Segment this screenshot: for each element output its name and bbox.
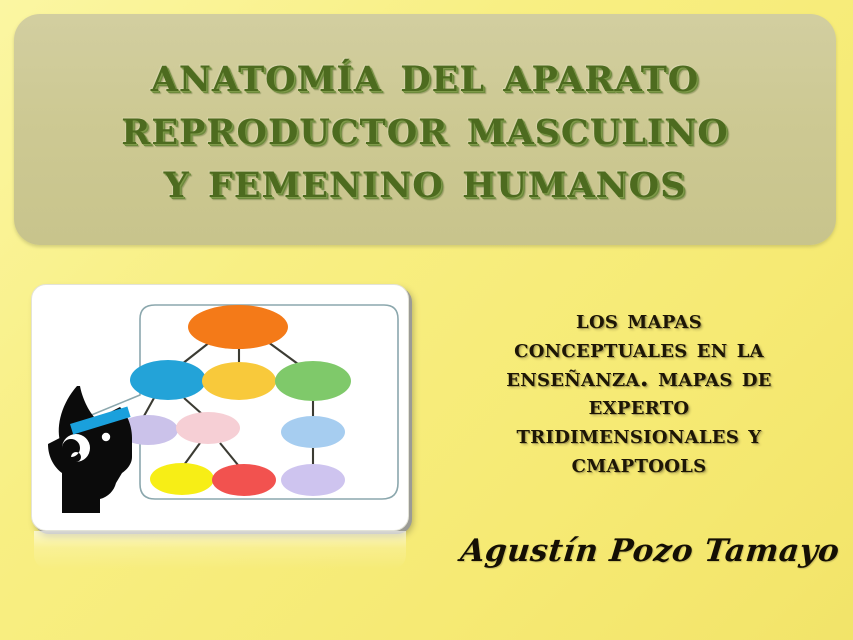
slide-canvas: Anatomía del Aparato Reproductor Masculi…	[0, 0, 853, 640]
title-line-2: Reproductor Masculino	[121, 100, 728, 153]
subtitle-line-1: Los mapas	[437, 306, 841, 335]
node-b2	[202, 362, 276, 400]
node-d1	[150, 463, 214, 495]
node-b1	[130, 360, 206, 400]
subtitle-text: Los mapas conceptuales en la enseñanza. …	[437, 306, 841, 479]
subtitle-line-3: enseñanza. Mapas de	[437, 364, 841, 393]
node-c2	[176, 412, 240, 444]
subtitle-line-5: tridimensionales y	[437, 421, 841, 450]
title-banner: Anatomía del Aparato Reproductor Masculi…	[14, 14, 836, 245]
subtitle-line-6: CmapTools	[437, 450, 841, 479]
node-d2	[212, 464, 276, 496]
title-line-1: Anatomía del Aparato	[151, 47, 700, 100]
node-c3	[281, 416, 345, 448]
eye-dot	[102, 433, 110, 441]
title-line-3: y Femenino Humanos	[164, 153, 687, 206]
node-d3	[281, 464, 345, 496]
author-signature: Agustín Pozo Tamayo	[458, 533, 842, 569]
subtitle-line-2: conceptuales en la	[437, 335, 841, 364]
subtitle-line-4: experto	[437, 392, 841, 421]
node-b3	[275, 361, 351, 401]
concept-map-graphic	[32, 285, 408, 530]
concept-map-illustration-card	[31, 284, 409, 531]
node-root	[188, 305, 288, 349]
card-reflection	[34, 531, 406, 569]
